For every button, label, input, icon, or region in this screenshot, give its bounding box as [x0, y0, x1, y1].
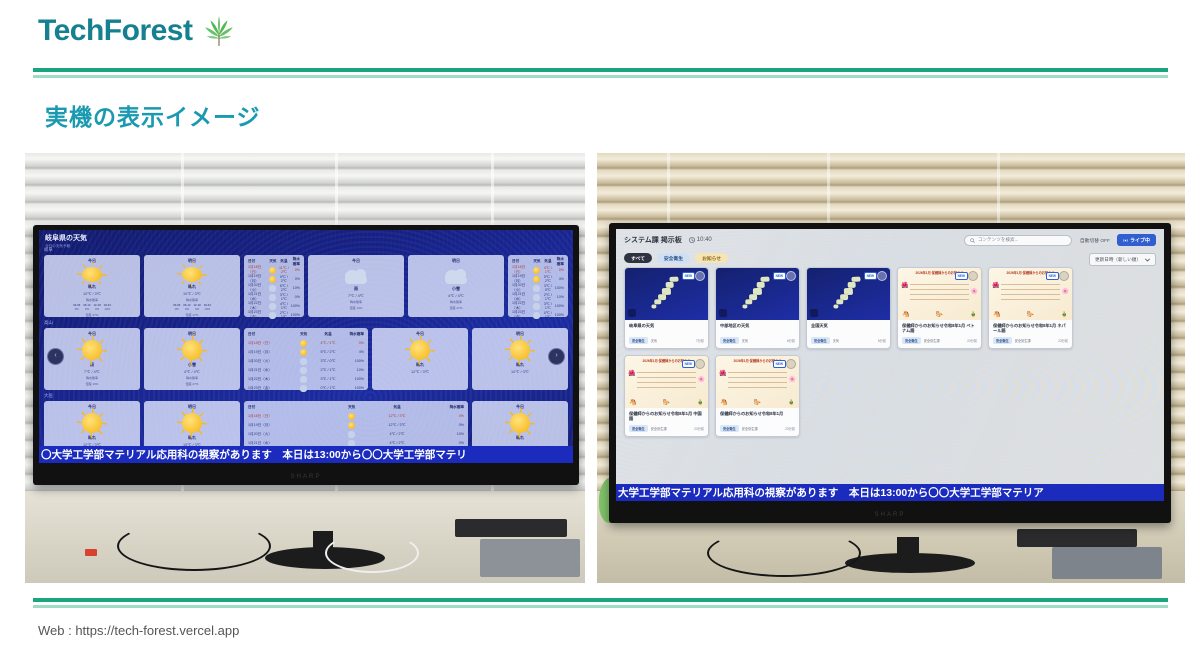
weather-heading: 岐阜県の天気 [45, 233, 87, 243]
card-title: 保健師からのお知らせ令和8年1月 ネパール語 [993, 323, 1068, 334]
sun-icon [268, 267, 278, 274]
card-date: 23分前 [694, 426, 704, 431]
card-title: 中部地区の天気 [720, 323, 795, 334]
footer-rule-thick [33, 598, 1168, 602]
sun-icon [292, 340, 315, 347]
humidity: 湿度 47% [186, 313, 199, 317]
content-card[interactable]: NEW 岐阜県の天気 安全衛生 天気 7分前 [624, 267, 709, 349]
table-row: 1月18日（日） 12℃ / 3℃ 0% [248, 412, 464, 421]
new-badge: NEW [864, 272, 877, 280]
sun-icon [330, 413, 373, 420]
forecast-card: 明日 小雪 4℃ / 4℃ 降水確率 湿度 47% [144, 328, 240, 390]
sun-icon [330, 422, 373, 429]
horse-icon: 🐴 [720, 399, 727, 406]
cloud-icon [532, 285, 542, 292]
thumb-action-icon [695, 359, 705, 369]
laptop [1052, 547, 1162, 579]
filter-chip-safety[interactable]: 安全衛生 [657, 253, 690, 263]
table-row: 1月22日（木） 3℃ / 1℃ 100% [248, 375, 364, 384]
card-date: 23分前 [785, 426, 795, 431]
thumb-tag-icon [719, 309, 727, 317]
weather-region-1: 高山 今日 雨 7℃ / 4℃ 降水確率 湿度 10% 明 [44, 320, 568, 390]
card-grid: NEW 岐阜県の天気 安全衛生 天気 7分前 [624, 267, 1156, 437]
cable [117, 521, 271, 571]
forecast-table: 日付 天気 気温 降水確率 1月18日（日） 11℃ / 2℃ 0% [244, 255, 304, 317]
tv-brand-logo: SHARP [875, 512, 906, 518]
cloud-icon [292, 367, 315, 374]
temperature: 10℃ / 3℃ [83, 291, 101, 296]
table-row: 1月23日（金） 0℃ / 1℃ 100% [512, 311, 564, 320]
tv-stand-neck [897, 537, 919, 565]
content-card[interactable]: 2026年1月 保健師からのお知らせ 🌺 🌸 🐴 🐎 🎍 NEW [715, 355, 800, 437]
ticker-bar: 〇大学工学部マテリアル応用科の視察があります 本日は13:00から〇〇大学工学部… [39, 446, 573, 463]
content-card[interactable]: 2026年1月 保健師からのお知らせ 🌺 🌸 🐴 🐎 🎍 NEW [988, 267, 1073, 349]
header-rule-thin [33, 75, 1168, 78]
cable-white [325, 533, 419, 573]
clock: 10:40 [689, 237, 712, 243]
cannabis-leaf-icon [202, 14, 236, 48]
japan-map-icon [649, 275, 684, 312]
flower-icon: 🌺 [992, 282, 999, 289]
sun-icon [510, 340, 530, 360]
flower-icon: 🌺 [901, 282, 908, 289]
search-placeholder: コンテンツを検索... [978, 237, 1019, 243]
footer-rule-thin [33, 605, 1168, 608]
sun-icon [510, 413, 530, 433]
cloud-icon [444, 269, 468, 284]
page-title: 実機の表示イメージ [45, 98, 261, 132]
cloud-icon [532, 312, 542, 319]
forecast-card: 今日 晴れ 12℃ / 3℃ [372, 328, 468, 390]
cloud-icon [292, 358, 315, 365]
cloud-icon [268, 312, 278, 319]
flower-icon: 🌸 [1062, 288, 1069, 295]
card-tag: 安全衛生 [629, 425, 648, 432]
av-device [1017, 529, 1137, 547]
table-row: 1月18日（日） 4℃ / 1℃ 0% [248, 339, 364, 348]
prev-button[interactable]: ‹ [47, 348, 64, 365]
broadcast-icon [1123, 238, 1128, 243]
card-thumbnail: 2026年1月 保健師からのお知らせ 🌺 🌸 🐴 🐎 🎍 NEW [625, 356, 708, 408]
thumb-tag-icon [810, 309, 818, 317]
new-badge: NEW [955, 272, 968, 280]
pop-label: 降水確率 [86, 298, 98, 302]
table-row: 1月19日（月） 5℃ / 2℃ 4% [248, 348, 364, 357]
pop-list: 00-060% 06-120% 12-180% 18-2410% [73, 303, 111, 311]
forecast-card-today: 今日 晴れ 10℃ / 3℃ 降水確率 00-060% 06-120% 12-1… [44, 255, 140, 317]
card-subtitle: 安全衛生課 [651, 426, 667, 431]
new-badge: NEW [773, 360, 786, 368]
card-thumbnail: 2026年1月 保健師からのお知らせ 🌺 🌸 🐴 🐎 🎍 NEW [989, 268, 1072, 320]
av-device [455, 519, 567, 537]
horse-icon: 🐴 [902, 311, 909, 318]
weather-app: 岐阜県の天気 今日の天気予報 岐阜 今日 晴れ 10℃ / 3℃ 降水確率 [39, 230, 573, 463]
auto-switch-label[interactable]: 自動切替 OFF [1080, 237, 1110, 244]
card-date: 7分前 [696, 338, 704, 343]
card-tag: 安全衛生 [629, 337, 648, 344]
card-thumbnail: NEW [625, 268, 708, 320]
board-title: システム課 掲示板 [624, 235, 682, 245]
card-subtitle: 天気 [742, 338, 748, 343]
flower-icon: 🌸 [698, 376, 705, 383]
thumb-action-icon [786, 359, 796, 369]
temperature: 10℃ / 3℃ [183, 291, 201, 296]
card-title: 全国天気 [811, 323, 886, 334]
card-subtitle: 安全衛生課 [742, 426, 758, 431]
filter-chip-news[interactable]: お知らせ [695, 253, 728, 263]
card-thumbnail: 2026年1月 保健師からのお知らせ 🌺 🌸 🐴 🐎 🎍 NEW [716, 356, 799, 408]
region-label: 高山 [44, 320, 568, 326]
red-plug [85, 549, 97, 556]
cloud-icon [330, 431, 373, 438]
horse-icon: 🐎 [754, 399, 761, 406]
pop-list: 00-060% 06-120% 12-180% 18-2410% [173, 303, 211, 311]
japan-map-icon [831, 275, 866, 312]
sun-icon [268, 276, 278, 283]
footer-web-url: Web : https://tech-forest.vercel.app [38, 623, 239, 638]
card-date: 6分前 [787, 338, 795, 343]
table-row: 1月23日（金） 0℃ / 1℃ 100% [248, 384, 364, 393]
region-label: 岐阜 [44, 247, 568, 253]
card-title: 保健師からのお知らせ令和8年1月 中国語 [629, 411, 704, 422]
new-badge: NEW [1046, 272, 1059, 280]
card-tag: 安全衛生 [902, 337, 921, 344]
filter-chip-all[interactable]: すべて [624, 253, 652, 263]
search-input[interactable]: コンテンツを検索... [964, 235, 1072, 246]
card-title: 岐阜県の天気 [629, 323, 704, 334]
brand-logo: TechForest [38, 14, 236, 48]
region-label: 大垣 [44, 393, 568, 399]
card-tag: 安全衛生 [811, 337, 830, 344]
card-date: 6分前 [878, 338, 886, 343]
slide-root: TechForest 実機の表示イメージ [0, 0, 1200, 669]
rain-icon [344, 269, 368, 284]
clock-icon [689, 237, 695, 243]
humidity: 湿度 47% [86, 313, 99, 317]
card-subtitle: 安全衛生課 [1015, 338, 1031, 343]
cable [707, 529, 861, 577]
board-toolbar: システム課 掲示板 10:40 [616, 229, 1164, 251]
sun-icon [182, 413, 202, 433]
sun-icon [410, 340, 430, 360]
forecast-table: 日付 天気 気温 降水確率 1月18日（日） 4℃ / 1℃ 0% [244, 328, 368, 390]
card-thumbnail: NEW [716, 268, 799, 320]
plant-icon: 🎍 [970, 311, 977, 318]
col-temp: 気温 [278, 259, 289, 264]
filter-chips: すべて 安全衛生 お知らせ [624, 253, 728, 263]
japan-map-icon [740, 275, 775, 312]
cloud-icon [268, 285, 278, 292]
card-date: 23分前 [1058, 338, 1068, 343]
forecast-table-b: 日付 天気 気温 降水確率 1月18日（日） 4℃ / 1℃ 0% [508, 255, 568, 317]
ticker-text: 大学工学部マテリアル応用科の視察があります 本日は13:00から〇〇大学工学部マ… [616, 485, 1044, 500]
plant-icon: 🎍 [1061, 311, 1068, 318]
sort-dropdown[interactable]: 更新日時（新しい順） [1089, 253, 1156, 266]
new-badge: NEW [773, 272, 786, 280]
content-card[interactable]: NEW 中部地区の天気 安全衛生 天気 6分前 [715, 267, 800, 349]
weather-region-0: 岐阜 今日 晴れ 10℃ / 3℃ 降水確率 00-060% 06-120% [44, 247, 568, 317]
horse-icon: 🐎 [663, 399, 670, 406]
search-icon [970, 238, 975, 243]
photo-right: システム課 掲示板 10:40 [597, 153, 1185, 583]
ticker-text: 〇大学工学部マテリアル応用科の視察があります 本日は13:00から〇〇大学工学部… [39, 447, 467, 462]
sort-label: 更新日時（新しい順） [1095, 257, 1141, 263]
horse-icon: 🐴 [629, 399, 636, 406]
flower-icon: 🌺 [719, 370, 726, 377]
sun-icon [182, 340, 202, 360]
card-thumbnail: 2026年1月 保健師からのお知らせ 🌺 🌸 🐴 🐎 🎍 NEW [898, 268, 981, 320]
sun-icon [82, 413, 102, 433]
table-row: 1月19日（月） 12℃ / 3℃ 0% [248, 421, 464, 430]
col-weather: 天気 [268, 259, 278, 264]
card-subtitle: 天気 [833, 338, 839, 343]
thumb-action-icon [786, 271, 796, 281]
cloud-icon [268, 294, 278, 301]
forecast-card-tomorrow-b: 明日 小雪 4℃ / 4℃ 降水確率 湿度 47% [408, 255, 504, 317]
cloud-icon [292, 385, 315, 392]
forecast-card-tomorrow: 明日 晴れ 10℃ / 3℃ 降水確率 00-060% 06-120% 12-1… [144, 255, 240, 317]
content-card[interactable]: 2026年1月 保健師からのお知らせ 🌺 🌸 🐴 🐎 🎍 NEW [624, 355, 709, 437]
sun-icon [532, 276, 542, 283]
tv-brand-logo: SHARP [291, 474, 322, 480]
table-row: 1月20日（火） 3℃ / 0℃ 100% [248, 357, 364, 366]
pop-label: 降水確率 [186, 298, 198, 302]
tv-left: 岐阜県の天気 今日の天気予報 岐阜 今日 晴れ 10℃ / 3℃ 降水確率 [33, 225, 579, 485]
card-title: 保健師からのお知らせ令和8年1月 [720, 411, 795, 422]
sun-icon [292, 349, 315, 356]
chevron-down-icon [1145, 258, 1150, 262]
photo-left: 岐阜県の天気 今日の天気予報 岐阜 今日 晴れ 10℃ / 3℃ 降水確率 [25, 153, 585, 583]
new-badge: NEW [682, 360, 695, 368]
plant-icon: 🎍 [697, 399, 704, 406]
tv-right: システム課 掲示板 10:40 [609, 223, 1171, 523]
new-badge: NEW [682, 272, 695, 280]
thumb-tag-icon [628, 309, 636, 317]
horse-icon: 🐴 [993, 311, 1000, 318]
cloud-icon [268, 303, 278, 310]
col-date: 日付 [248, 259, 268, 264]
thumb-action-icon [877, 271, 887, 281]
cloud-icon [532, 303, 542, 310]
header-rule-thick [33, 68, 1168, 72]
flower-icon: 🌸 [971, 288, 978, 295]
cloud-icon [292, 376, 315, 383]
thumb-action-icon [1059, 271, 1069, 281]
card-thumbnail: NEW [807, 268, 890, 320]
cloud-icon [532, 294, 542, 301]
card-tag: 安全衛生 [720, 425, 739, 432]
table-row: 1月23日（金） 2℃ / 1℃ 100% [248, 311, 300, 320]
brand-name: TechForest [38, 16, 192, 46]
plant-icon: 🎍 [788, 399, 795, 406]
content-card[interactable]: NEW 全国天気 安全衛生 天気 6分前 [806, 267, 891, 349]
card-subtitle: 安全衛生課 [924, 338, 940, 343]
sun-icon [82, 340, 102, 360]
content-card[interactable]: 2026年1月 保健師からのお知らせ 🌺 🌸 🐴 🐎 🎍 NEW [897, 267, 982, 349]
screen-weather: 岐阜県の天気 今日の天気予報 岐阜 今日 晴れ 10℃ / 3℃ 降水確率 [39, 230, 573, 463]
clock-text: 10:40 [697, 237, 712, 243]
flower-icon: 🌺 [628, 370, 635, 377]
ticker-bar: 大学工学部マテリアル応用科の視察があります 本日は13:00から〇〇大学工学部マ… [616, 484, 1164, 501]
forecast-card-today-b: 今日 雨 7℃ / 4℃ 降水確率 湿度 10% [308, 255, 404, 317]
table-row: 1月20日（火） 4℃ / 2℃ 10% [248, 430, 464, 439]
table-row: 1月21日（水） 2℃ / 1℃ 10% [248, 366, 364, 375]
sun-icon [82, 267, 102, 282]
live-button[interactable]: ライブ中 [1117, 234, 1156, 246]
horse-icon: 🐎 [1027, 311, 1034, 318]
laptop [480, 539, 580, 577]
sun-icon [182, 267, 202, 282]
card-subtitle: 天気 [651, 338, 657, 343]
bulletin-app: システム課 掲示板 10:40 [616, 229, 1164, 501]
card-title: 保健師からのお知らせ令和8年1月 ベトナム語 [902, 323, 977, 334]
card-tag: 安全衛生 [720, 337, 739, 344]
flower-icon: 🌸 [789, 376, 796, 383]
card-tag: 安全衛生 [993, 337, 1012, 344]
sun-icon [532, 267, 542, 274]
thumb-action-icon [695, 271, 705, 281]
col-pop: 降水確率 [290, 257, 300, 267]
live-button-label: ライブ中 [1130, 237, 1150, 244]
horse-icon: 🐎 [936, 311, 943, 318]
card-date: 23分前 [967, 338, 977, 343]
next-button[interactable]: › [548, 348, 565, 365]
thumb-action-icon [968, 271, 978, 281]
screen-board: システム課 掲示板 10:40 [616, 229, 1164, 501]
